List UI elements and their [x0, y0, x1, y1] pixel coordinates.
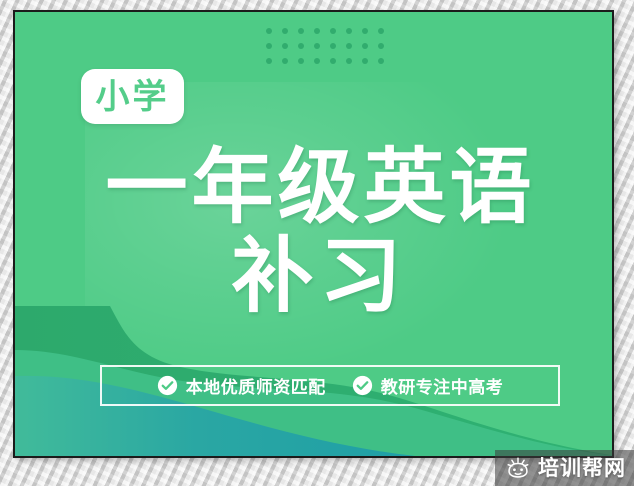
- feature-strip: 本地优质师资匹配 教研专注中高考: [100, 365, 560, 406]
- feature-item: 本地优质师资匹配: [157, 373, 326, 398]
- grade-level-badge: 小学: [81, 69, 184, 124]
- promo-card: 小学 一年级英语 补习 本地优质师资匹配 教研专注中高考: [13, 10, 614, 458]
- check-circle-icon: [157, 375, 178, 396]
- page-title: 一年级英语 补习: [15, 144, 614, 322]
- feature-item-label: 教研专注中高考: [381, 373, 504, 398]
- grade-level-badge-label: 小学: [96, 80, 170, 114]
- watermark: 培训帮网: [495, 450, 634, 486]
- sun-face-logo-icon: [505, 455, 531, 481]
- page-background: 小学 一年级英语 补习 本地优质师资匹配 教研专注中高考: [0, 0, 634, 486]
- watermark-text: 培训帮网: [538, 458, 626, 479]
- page-title-line-1: 一年级英语: [15, 144, 614, 232]
- dot-grid-decoration: [266, 28, 394, 73]
- feature-item: 教研专注中高考: [352, 373, 504, 398]
- check-circle-icon: [352, 375, 373, 396]
- feature-item-label: 本地优质师资匹配: [186, 373, 326, 398]
